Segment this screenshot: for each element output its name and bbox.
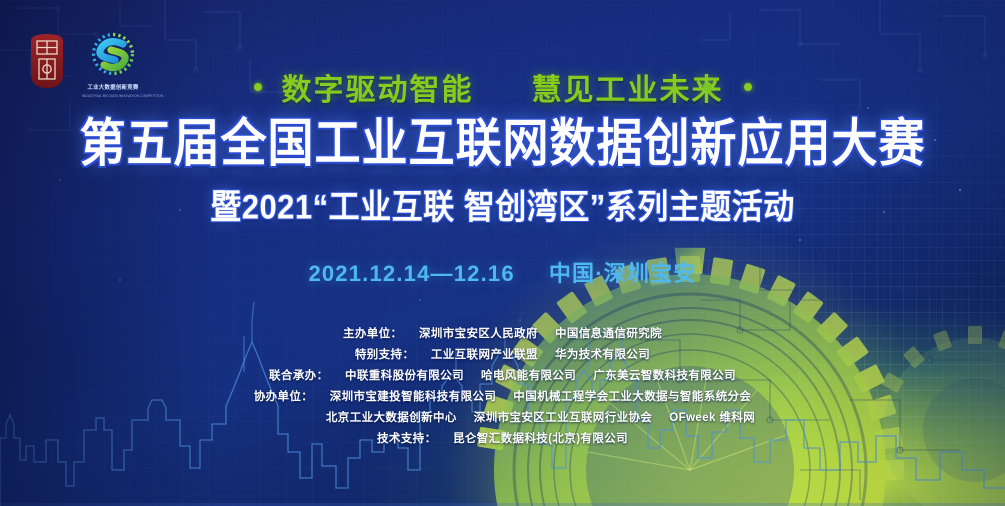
event-date: 2021.12.14—12.16	[308, 261, 514, 287]
tagline-right-dot-icon	[744, 83, 752, 91]
organizer-label: 协办单位：	[254, 388, 330, 407]
organizer-values: 中联重科股份有限公司哈电风能有限公司广东美云智数科技有限公司	[345, 367, 736, 386]
organizer-label: 技术支持：	[377, 430, 453, 449]
organizer-row: 主办单位：深圳市宝安区人民政府中国信息通信研究院	[343, 325, 662, 344]
organizer-name: 中联重科股份有限公司	[345, 367, 464, 386]
organizer-label: 联合承办：	[269, 367, 345, 386]
organizer-values: 深圳市宝安区人民政府中国信息通信研究院	[419, 325, 662, 344]
organizer-values: 工业互联网产业联盟华为技术有限公司	[431, 346, 650, 365]
conference-poster: 工业大数据创新竞赛 INDUSTRIAL BIG DATA INNOVATION…	[0, 0, 1005, 506]
organizer-name: 广东美云智数科技有限公司	[593, 367, 736, 386]
green-accent-dot	[703, 82, 712, 91]
organizer-name: 深圳市宝安区人民政府	[419, 325, 538, 344]
organizer-row: 特别支持：工业互联网产业联盟华为技术有限公司	[355, 346, 650, 365]
organizer-name: 华为技术有限公司	[555, 346, 650, 365]
organizer-list: 主办单位：深圳市宝安区人民政府中国信息通信研究院特别支持：工业互联网产业联盟华为…	[0, 325, 1005, 449]
poster-tagline: 数字驱动智能 慧见工业未来	[0, 65, 1005, 109]
tagline-left-dot-icon	[254, 83, 262, 91]
tagline-part-2: 慧见工业未来	[532, 65, 724, 109]
industrial-bigdata-competition-logo: 工业大数据创新竞赛 INDUSTRIAL BIG DATA INNOVATION…	[82, 32, 144, 90]
organizer-name: 工业互联网产业联盟	[431, 346, 538, 365]
tagline-part-1: 数字驱动智能	[282, 65, 474, 109]
organizer-label: 主办单位：	[343, 325, 419, 344]
organizer-name: 昆仑智汇数据科技(北京)有限公司	[453, 430, 628, 449]
organizer-name: 深圳市宝建投智能科技有限公司	[330, 388, 497, 407]
organizer-row: 协办单位：深圳市宝建投智能科技有限公司中国机械工程学会工业大数据与智能系统分会	[254, 388, 752, 407]
logo-caption-sub: INDUSTRIAL BIG DATA INNOVATION COMPETITI…	[82, 94, 144, 98]
logo-row: 工业大数据创新竞赛 INDUSTRIAL BIG DATA INNOVATION…	[26, 32, 144, 90]
organizer-name: OFweek 维科网	[669, 409, 755, 428]
organizer-name: 深圳市宝安区工业互联网行业协会	[474, 409, 653, 428]
organizer-name: 中国机械工程学会工业大数据与智能系统分会	[513, 388, 751, 407]
organizer-name: 中国信息通信研究院	[555, 325, 662, 344]
sub-title: 暨2021“工业互联 智创湾区”系列主题活动	[0, 179, 1005, 229]
organizer-name: 北京工业大数据创新中心	[326, 409, 457, 428]
organizer-row: 主办单位：北京工业大数据创新中心深圳市宝安区工业互联网行业协会OFweek 维科…	[250, 409, 755, 428]
organizer-name: 哈电风能有限公司	[481, 367, 576, 386]
main-title: 第五届全国工业互联网数据创新应用大赛	[0, 113, 1005, 174]
organizer-values: 北京工业大数据创新中心深圳市宝安区工业互联网行业协会OFweek 维科网	[326, 409, 755, 428]
organizer-row: 联合承办：中联重科股份有限公司哈电风能有限公司广东美云智数科技有限公司	[269, 367, 736, 386]
logo-caption: 工业大数据创新竞赛	[82, 83, 144, 91]
organizer-row: 技术支持：昆仑智汇数据科技(北京)有限公司	[377, 430, 628, 449]
organizer-values: 昆仑智汇数据科技(北京)有限公司	[453, 430, 628, 449]
organizer-values: 深圳市宝建投智能科技有限公司中国机械工程学会工业大数据与智能系统分会	[330, 388, 752, 407]
date-location-line: 2021.12.14—12.16 中国·深圳宝安	[0, 256, 1005, 288]
organizer-label: 特别支持：	[355, 346, 431, 365]
event-location: 中国·深圳宝安	[549, 256, 697, 288]
baoan-government-seal-logo	[26, 32, 68, 90]
